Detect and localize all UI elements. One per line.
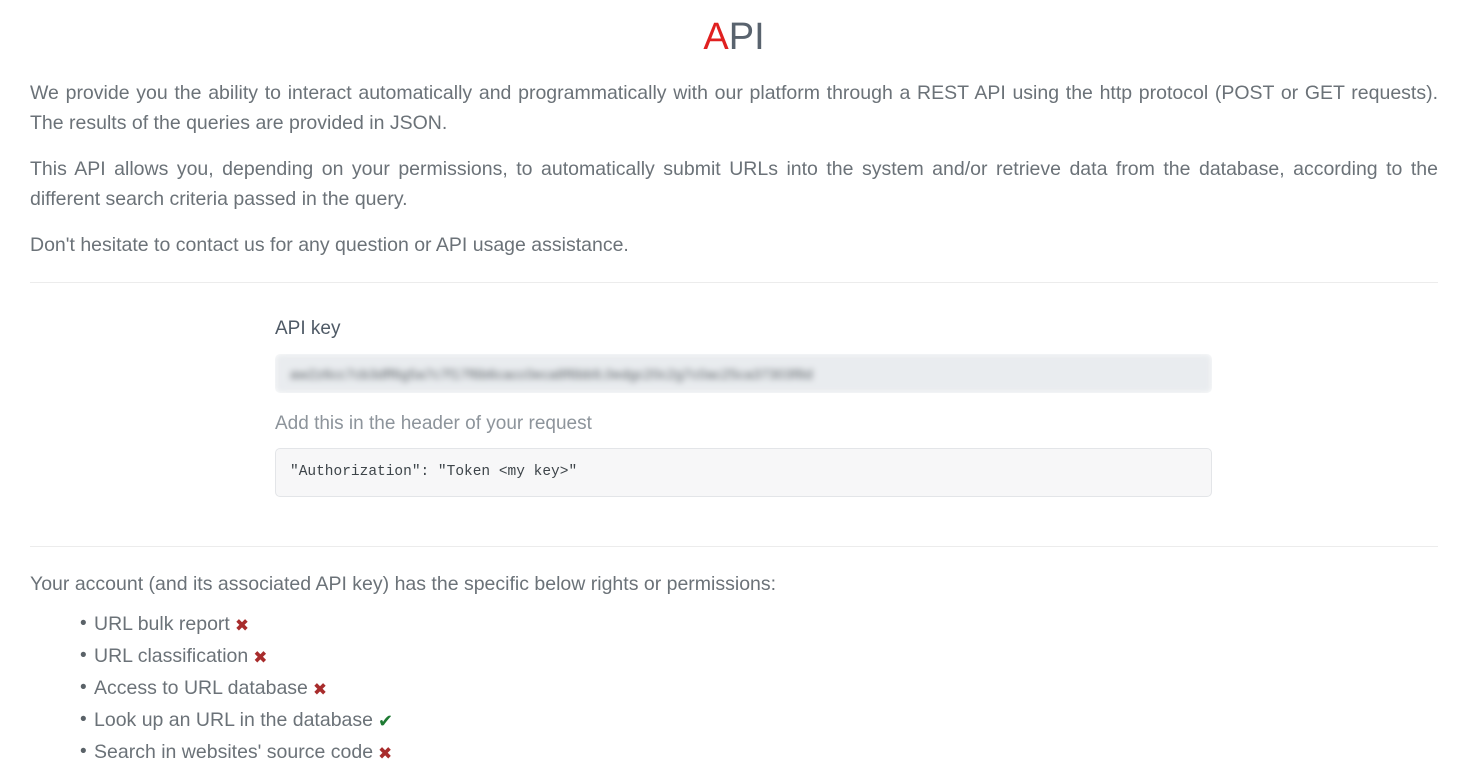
denied-icon: ✖ <box>313 680 327 700</box>
permissions-list: URL bulk report✖ URL classification✖ Acc… <box>30 609 1438 769</box>
authorization-header-code: "Authorization": "Token <my key>" <box>275 448 1212 497</box>
section-spacer <box>0 497 1468 546</box>
permission-label: URL classification <box>94 645 248 667</box>
api-key-input[interactable] <box>275 354 1212 393</box>
api-key-section: API key Add this in the header of your r… <box>0 283 1468 497</box>
api-page: API We provide you the ability to intera… <box>0 0 1468 759</box>
list-item: Look up an URL in the database✔ <box>80 705 1438 737</box>
list-item: URL classification✖ <box>80 641 1438 673</box>
list-item: Search in websites' source code✖ <box>80 737 1438 769</box>
denied-icon: ✖ <box>378 744 392 764</box>
permissions-section: Your account (and its associated API key… <box>0 547 1468 769</box>
granted-icon: ✔ <box>378 711 393 732</box>
api-key-label: API key <box>275 316 1211 342</box>
intro-paragraph-2: This API allows you, depending on your p… <box>30 154 1438 214</box>
intro-section: We provide you the ability to interact a… <box>0 60 1468 260</box>
list-item: Access to URL database✖ <box>80 673 1438 705</box>
permission-label: Look up an URL in the database <box>94 709 373 731</box>
page-title: API <box>0 0 1468 60</box>
permissions-lead: Your account (and its associated API key… <box>30 569 1438 599</box>
api-key-hint: Add this in the header of your request <box>275 411 1211 437</box>
permission-label: URL bulk report <box>94 613 230 635</box>
intro-paragraph-3: Don't hesitate to contact us for any que… <box>30 230 1438 260</box>
page-title-rest: PI <box>729 16 765 58</box>
permission-label: Access to URL database <box>94 677 308 699</box>
denied-icon: ✖ <box>235 616 249 636</box>
intro-paragraph-1: We provide you the ability to interact a… <box>30 78 1438 138</box>
denied-icon: ✖ <box>253 648 267 668</box>
page-title-accent: A <box>703 16 728 58</box>
list-item: URL bulk report✖ <box>80 609 1438 641</box>
permission-label: Search in websites' source code <box>94 741 373 763</box>
api-key-input-wrapper <box>275 354 1212 393</box>
intro-paragraphs: We provide you the ability to interact a… <box>0 78 1468 260</box>
